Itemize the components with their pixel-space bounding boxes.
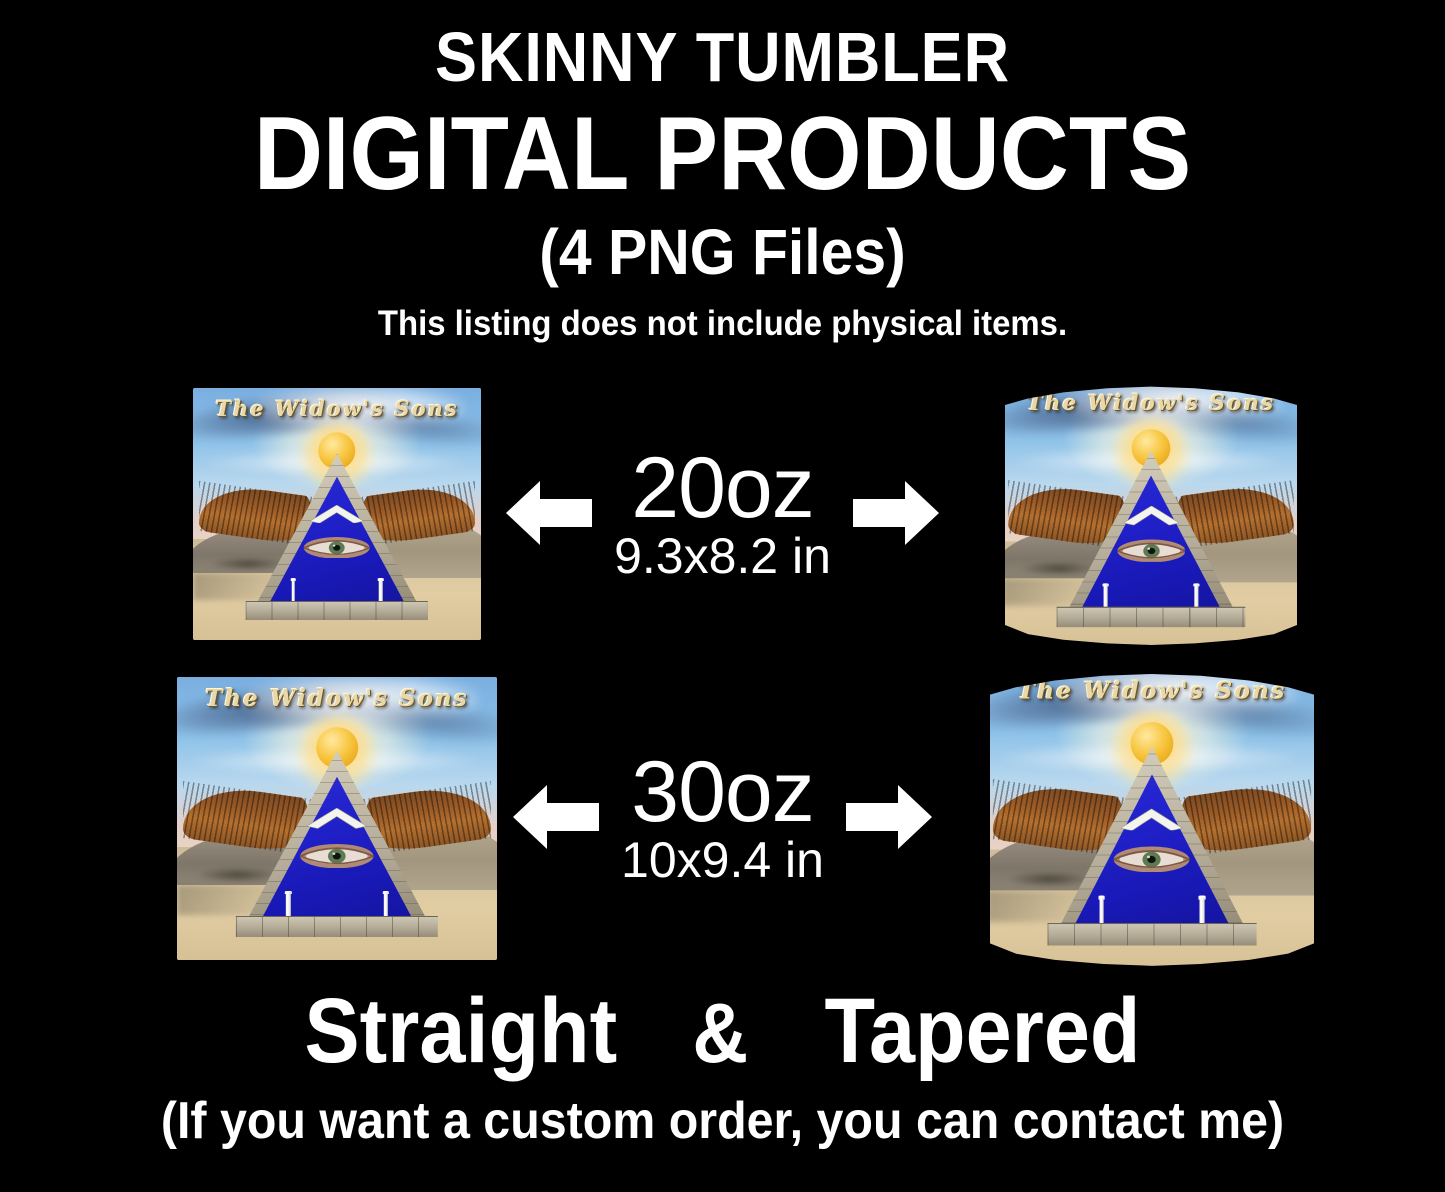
masonic-square-icon xyxy=(1121,808,1182,830)
style-labels-row: Straight & Tapered xyxy=(0,985,1445,1077)
pyramid-icon xyxy=(238,751,436,938)
product-image-30oz-tapered[interactable]: The Widow's Sons xyxy=(990,671,1314,967)
all-seeing-eye-icon xyxy=(304,537,370,559)
dimensions-label: 10x9.4 in xyxy=(621,832,824,888)
artwork-brand-title: The Widow's Sons xyxy=(207,396,466,421)
artwork: The Widow's Sons xyxy=(990,671,1314,967)
product-row-30oz: The Widow's Sons 30oz 10x9.4 in xyxy=(0,677,1445,962)
size-callout-20oz: 20oz 9.3x8.2 in xyxy=(463,388,983,643)
arrow-right-icon xyxy=(846,785,932,854)
footer-block: Straight & Tapered (If you want a custom… xyxy=(0,985,1445,1149)
listing-canvas: SKINNY TUMBLER DIGITAL PRODUCTS (4 PNG F… xyxy=(0,0,1445,1192)
product-image-20oz-straight[interactable]: The Widow's Sons xyxy=(193,388,481,640)
product-image-20oz-tapered[interactable]: The Widow's Sons xyxy=(1005,384,1297,646)
size-label: 30oz xyxy=(621,752,824,832)
pyramid-icon xyxy=(1059,451,1244,627)
masonic-square-icon xyxy=(310,505,364,523)
title-line-2: DIGITAL PRODUCTS xyxy=(58,102,1387,206)
artwork: The Widow's Sons xyxy=(193,388,481,640)
ampersand-label: & xyxy=(693,991,749,1075)
artwork: The Widow's Sons xyxy=(177,677,497,960)
header-block: SKINNY TUMBLER DIGITAL PRODUCTS (4 PNG F… xyxy=(0,0,1445,341)
artwork-brand-title: The Widow's Sons xyxy=(1017,389,1285,415)
artwork-brand-title: The Widow's Sons xyxy=(1003,677,1300,705)
title-line-1: SKINNY TUMBLER xyxy=(72,22,1373,92)
tapered-label: Tapered xyxy=(825,985,1141,1077)
disclaimer-text: This listing does not include physical i… xyxy=(43,306,1401,341)
pyramid-icon xyxy=(248,454,427,620)
artwork: The Widow's Sons xyxy=(1005,384,1297,646)
all-seeing-eye-icon xyxy=(300,844,373,868)
all-seeing-eye-icon xyxy=(1117,539,1185,562)
size-label: 20oz xyxy=(614,448,831,528)
artwork-brand-title: The Widow's Sons xyxy=(193,685,481,712)
arrow-right-icon xyxy=(853,481,939,550)
arrow-left-icon xyxy=(506,481,592,550)
arrow-left-icon xyxy=(513,785,599,854)
dimensions-label: 9.3x8.2 in xyxy=(614,528,831,584)
pyramid-base xyxy=(236,916,438,938)
pyramid-base xyxy=(246,601,428,620)
masonic-square-icon xyxy=(1123,506,1178,525)
all-seeing-eye-icon xyxy=(1114,846,1190,872)
masonic-square-icon xyxy=(307,808,367,829)
product-image-30oz-straight[interactable]: The Widow's Sons xyxy=(177,677,497,960)
straight-label: Straight xyxy=(304,985,617,1077)
pyramid-base xyxy=(1048,923,1257,946)
product-row-20oz: The Widow's Sons 20oz 9.3x8.2 in xyxy=(0,388,1445,643)
pyramid-icon xyxy=(1050,747,1255,946)
custom-order-note: (If you want a custom order, you can con… xyxy=(51,1093,1395,1149)
size-callout-30oz: 30oz 10x9.4 in xyxy=(463,677,983,962)
file-count-label: (4 PNG Files) xyxy=(58,220,1387,284)
size-text-block: 20oz 9.3x8.2 in xyxy=(614,448,831,584)
size-text-block: 30oz 10x9.4 in xyxy=(621,752,824,888)
pyramid-base xyxy=(1057,607,1245,627)
